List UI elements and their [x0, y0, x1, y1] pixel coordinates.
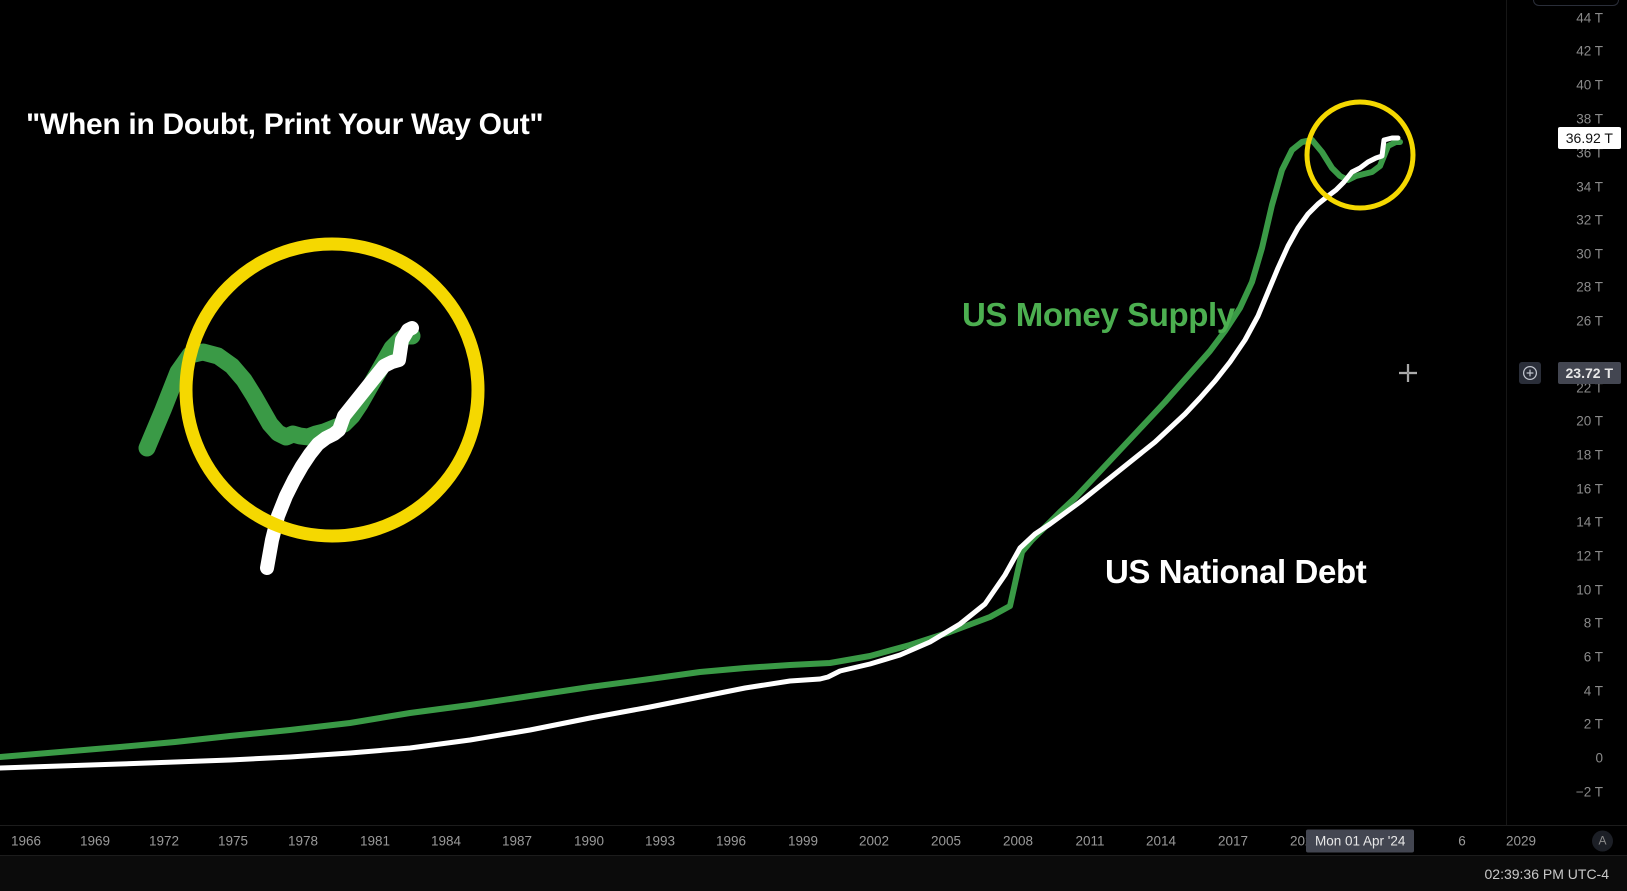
- price-axis-tick: 34 T: [1576, 180, 1603, 195]
- time-axis-tick: 2017: [1218, 833, 1248, 848]
- time-axis-tick: 1987: [502, 833, 532, 848]
- time-axis[interactable]: 1966 1969 1972 1975 1978 1981 1984 1987 …: [0, 825, 1627, 855]
- price-axis-tick: 30 T: [1576, 247, 1603, 262]
- price-axis-tick: −2 T: [1576, 785, 1603, 800]
- chart-plot-area[interactable]: "When in Doubt, Print Your Way Out" US M…: [0, 0, 1506, 825]
- time-axis-tick: 1993: [645, 833, 675, 848]
- price-badge-us-national-debt[interactable]: 36.92 T: [1558, 127, 1621, 149]
- autoscale-button[interactable]: A: [1592, 830, 1613, 851]
- price-axis-tick: 8 T: [1584, 616, 1603, 631]
- price-axis-tick: 14 T: [1576, 515, 1603, 530]
- price-axis-tick: 10 T: [1576, 583, 1603, 598]
- time-axis-tick: 2029: [1506, 833, 1536, 848]
- price-axis-tick: 12 T: [1576, 549, 1603, 564]
- price-axis-tick: 26 T: [1576, 314, 1603, 329]
- time-axis-cursor-badge[interactable]: Mon 01 Apr '24: [1306, 829, 1414, 852]
- price-axis[interactable]: 44 T 42 T 40 T 38 T 36 T 34 T 32 T 30 T …: [1506, 0, 1627, 825]
- time-axis-tick: 1972: [149, 833, 179, 848]
- price-axis-tick: 18 T: [1576, 448, 1603, 463]
- price-badge-us-money-supply[interactable]: 23.72 T: [1558, 362, 1621, 384]
- series-line-us-money-supply: [0, 140, 1400, 757]
- series-label-us-money-supply: US Money Supply: [962, 296, 1235, 334]
- crosshair-cursor-icon: [1397, 362, 1419, 384]
- price-axis-tick: 2 T: [1584, 717, 1603, 732]
- time-axis-tick: 1975: [218, 833, 248, 848]
- series-label-us-national-debt: US National Debt: [1105, 553, 1366, 591]
- time-axis-tick: 2011: [1075, 833, 1104, 848]
- status-bar: 02:39:36 PM UTC-4: [0, 855, 1627, 891]
- time-axis-tick: 1996: [716, 833, 746, 848]
- time-axis-tick: 1981: [360, 833, 390, 848]
- price-axis-top-handle[interactable]: [1533, 0, 1619, 6]
- price-axis-tick: 4 T: [1584, 684, 1603, 699]
- plus-circle-icon[interactable]: [1519, 362, 1541, 384]
- time-axis-tick: 2008: [1003, 833, 1033, 848]
- price-axis-tick: 32 T: [1576, 213, 1603, 228]
- time-axis-tick: 1984: [431, 833, 461, 848]
- magnified-inset: [147, 244, 478, 568]
- time-axis-tick: 1978: [288, 833, 318, 848]
- price-axis-tick: 6 T: [1584, 650, 1603, 665]
- highlight-circle-inset-icon: [186, 244, 478, 536]
- time-axis-tick: 2014: [1146, 833, 1176, 848]
- price-axis-tick: 38 T: [1576, 112, 1603, 127]
- chart-application: "When in Doubt, Print Your Way Out" US M…: [0, 0, 1627, 891]
- time-axis-tick: 2002: [859, 833, 889, 848]
- price-axis-tick: 16 T: [1576, 482, 1603, 497]
- price-axis-tick: 0: [1595, 751, 1603, 766]
- chart-title: "When in Doubt, Print Your Way Out": [26, 108, 543, 142]
- time-axis-tick: 1990: [574, 833, 604, 848]
- price-axis-tick: 40 T: [1576, 78, 1603, 93]
- time-axis-tick: 1999: [788, 833, 818, 848]
- price-axis-tick: 44 T: [1576, 11, 1603, 26]
- clock-label: 02:39:36 PM UTC-4: [1485, 866, 1627, 882]
- time-axis-tick: 1969: [80, 833, 110, 848]
- time-axis-tick-partial: 6: [1458, 833, 1466, 848]
- price-axis-tick: 42 T: [1576, 44, 1603, 59]
- time-axis-tick: 2005: [931, 833, 961, 848]
- time-axis-tick: 1966: [11, 833, 41, 848]
- price-axis-tick: 28 T: [1576, 280, 1603, 295]
- price-axis-tick: 20 T: [1576, 414, 1603, 429]
